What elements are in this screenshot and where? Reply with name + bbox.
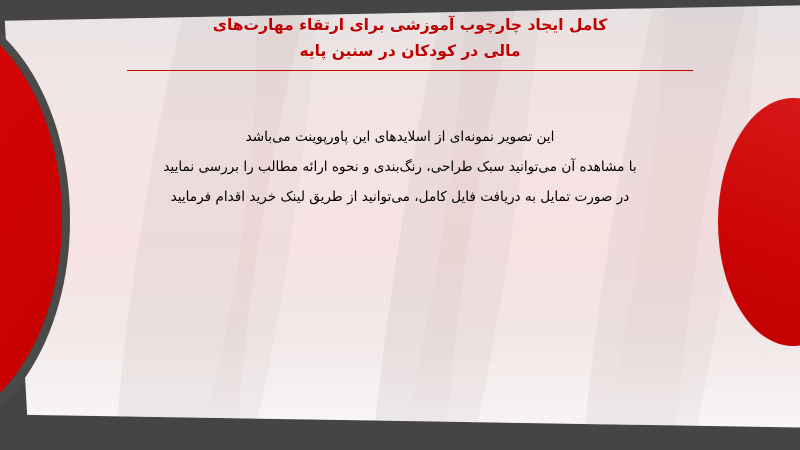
body-line-2: با مشاهده آن می‌توانید سبک طراحی، رنگ‌بن…: [80, 152, 720, 182]
slide-title: کامل ایجاد چارچوب آموزشی برای ارتقاء مها…: [120, 12, 700, 71]
body-line-3: در صورت تمایل به دریافت فایل کامل، می‌تو…: [80, 182, 720, 212]
presentation-slide: کامل ایجاد چارچوب آموزشی برای ارتقاء مها…: [0, 0, 800, 450]
body-line-1: این تصویر نمونه‌ای از اسلایدهای این پاور…: [80, 122, 720, 152]
slide-title-line-2: مالی در کودکان در سنین پایه: [120, 38, 700, 64]
slide-title-line-1: کامل ایجاد چارچوب آموزشی برای ارتقاء مها…: [120, 12, 700, 38]
slide-body-text: این تصویر نمونه‌ای از اسلایدهای این پاور…: [80, 122, 720, 212]
title-underline-rule: [127, 70, 693, 71]
